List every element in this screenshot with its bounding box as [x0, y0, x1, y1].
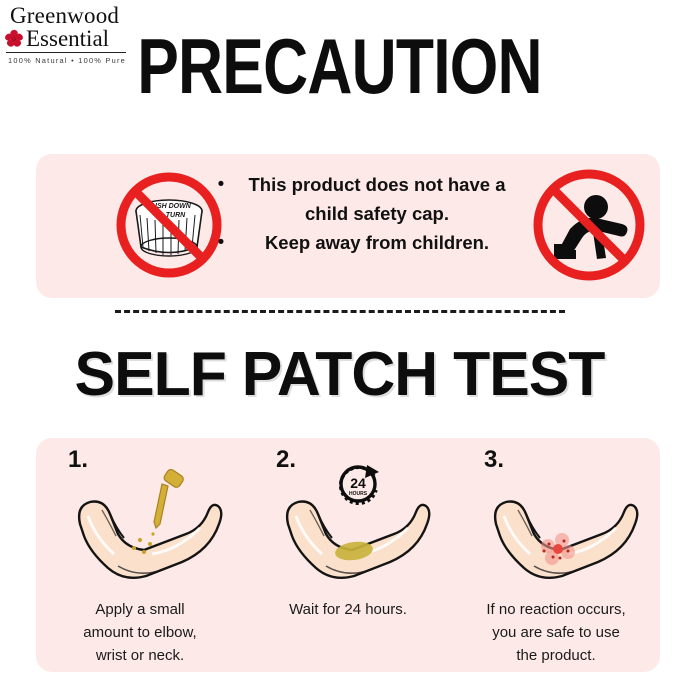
page-title-self-patch-test: SELF PATCH TEST: [7, 342, 672, 408]
no-child-safety-cap-icon: PUSH DOWN & TURN: [114, 168, 224, 283]
patch-test-step-1: 1. Apply a small amount to elbow, wrist …: [36, 438, 244, 672]
dropper-icon: [154, 468, 185, 528]
bullet-marker: •: [212, 170, 230, 199]
step-2-caption: Wait for 24 hours.: [250, 598, 446, 621]
precaution-bullet-1-line1: This product does not have a: [230, 170, 524, 199]
arm-with-dropper-icon: [36, 462, 244, 582]
no-children-icon: [530, 166, 648, 284]
clock-24-hours-icon: 24 HOURS: [341, 465, 379, 503]
step-1-caption: Apply a small amount to elbow, wrist or …: [42, 598, 238, 667]
precaution-bullet-list: • This product does not have a child saf…: [212, 170, 542, 257]
precaution-bullet-1: • This product does not have a child saf…: [212, 170, 542, 228]
clock-unit: HOURS: [349, 491, 368, 497]
precaution-bullet-2: • Keep away from children. •: [212, 228, 542, 257]
patch-test-step-2: 2. 24 HOURS Wait for 24 hours.: [244, 438, 452, 672]
step-3-caption: If no reaction occurs, you are safe to u…: [458, 598, 654, 667]
dashed-divider: [115, 310, 565, 316]
step-1-caption-line3: wrist or neck.: [42, 644, 238, 667]
step-2-caption-line1: Wait for 24 hours.: [250, 598, 446, 621]
precaution-bullet-1-line2: child safety cap.: [230, 199, 524, 228]
step-3-caption-line3: the product.: [458, 644, 654, 667]
clock-value: 24: [350, 475, 366, 491]
step-1-caption-line1: Apply a small: [42, 598, 238, 621]
precaution-bullet-2-line1: Keep away from children.: [230, 228, 524, 257]
step-3-caption-line2: you are safe to use: [458, 621, 654, 644]
bullet-marker: •: [212, 228, 230, 257]
red-flower-icon: [4, 29, 24, 48]
arm-with-rash-icon: [452, 462, 660, 582]
step-1-caption-line2: amount to elbow,: [42, 621, 238, 644]
brand-name-line1: Greenwood: [2, 4, 130, 28]
patch-test-step-3: 3. If no reaction occurs,: [452, 438, 660, 672]
patch-test-steps-panel: 1. Apply a small amount to elbow, wrist …: [36, 438, 660, 672]
arm-with-24-hours-clock-icon: 24 HOURS: [244, 462, 452, 582]
step-3-caption-line1: If no reaction occurs,: [458, 598, 654, 621]
page-title-precaution: PRECAUTION: [68, 26, 611, 106]
precaution-panel: PUSH DOWN & TURN • This product does not…: [36, 154, 660, 298]
